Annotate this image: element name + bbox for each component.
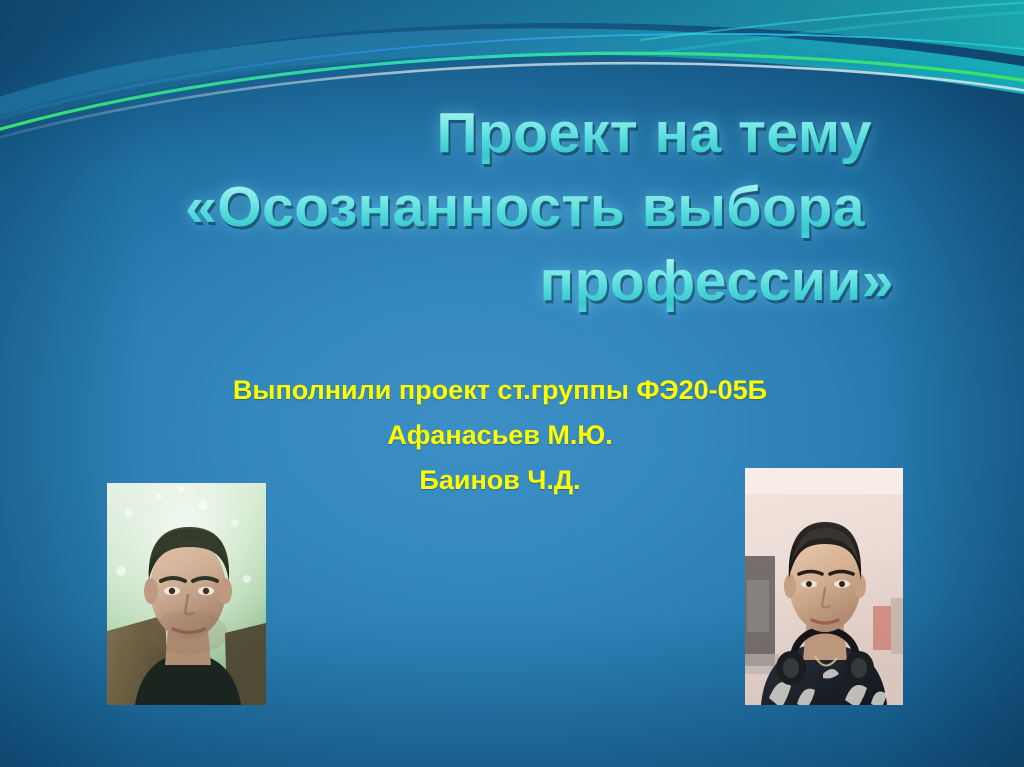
title-line-1: Проект на тему bbox=[130, 96, 920, 170]
photo-right bbox=[745, 468, 903, 705]
slide-title: Проект на тему «Осознанность выбора проф… bbox=[130, 96, 920, 318]
subtitle-line-author-1: Афанасьев М.Ю. bbox=[110, 413, 890, 458]
subtitle-line-group: Выполнили проект ст.группы ФЭ20-05Б bbox=[110, 368, 890, 413]
photo-left-image bbox=[107, 483, 266, 705]
presentation-slide: Проект на тему «Осознанность выбора проф… bbox=[0, 0, 1024, 767]
photo-left bbox=[107, 483, 266, 705]
title-line-3: профессии» bbox=[130, 244, 920, 318]
title-line-2: «Осознанность выбора bbox=[130, 170, 920, 244]
photo-right-image bbox=[745, 468, 903, 705]
